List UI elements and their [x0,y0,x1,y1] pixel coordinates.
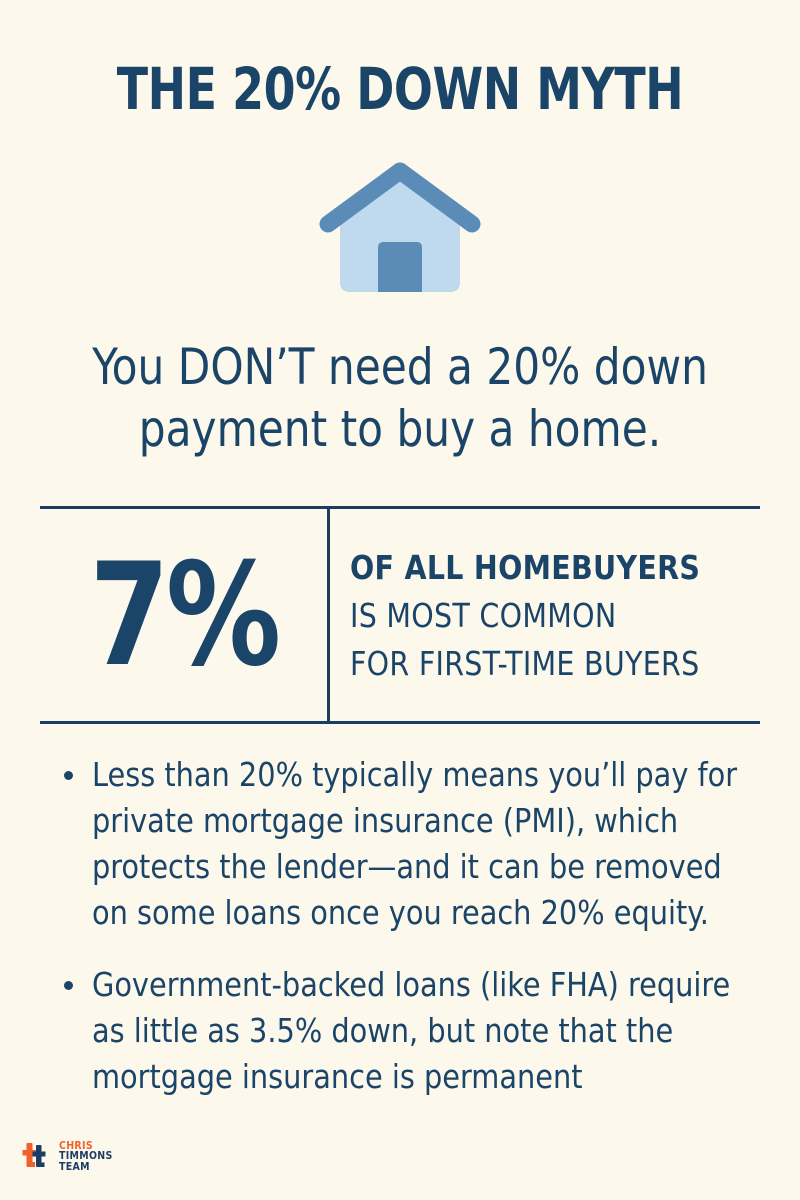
list-item-text: Government-backed loans (like FHA) requi… [92,962,750,1100]
stat-divider-vertical [327,509,330,722]
headline: You DON’T need a 20% down payment to buy… [52,336,748,460]
stat-line-tertiary: FOR FIRST-TIME BUYERS [350,640,744,688]
list-item-text: Less than 20% typically means you’ll pay… [92,752,750,936]
brand-logo: CHRIS TIMMONS TEAM [22,1141,113,1173]
logo-line-team: TEAM [59,1162,113,1173]
logo-monogram-icon [22,1141,52,1171]
house-door-shape [378,242,422,292]
house-illustration [0,160,800,310]
page-title: THE 20% DOWN MYTH [48,58,752,120]
stat-number: 7% [54,509,312,722]
stat-description: OF ALL HOMEBUYERS IS MOST COMMON FOR FIR… [350,509,760,722]
statistic-block: 7% OF ALL HOMEBUYERS IS MOST COMMON FOR … [40,506,760,724]
infographic-poster: THE 20% DOWN MYTH You DON’T need a 20% d… [0,0,800,1200]
list-item: Less than 20% typically means you’ll pay… [50,752,770,936]
list-item: Government-backed loans (like FHA) requi… [50,962,770,1100]
logo-wordmark: CHRIS TIMMONS TEAM [59,1141,113,1173]
bullet-dot-icon [64,981,73,990]
stat-line-secondary: IS MOST COMMON [350,592,744,640]
stat-line-primary: OF ALL HOMEBUYERS [350,544,744,592]
house-icon [310,160,490,310]
bullet-dot-icon [64,771,73,780]
logo-line-timmons: TIMMONS [59,1151,113,1162]
bullet-list: Less than 20% typically means you’ll pay… [50,752,770,1126]
